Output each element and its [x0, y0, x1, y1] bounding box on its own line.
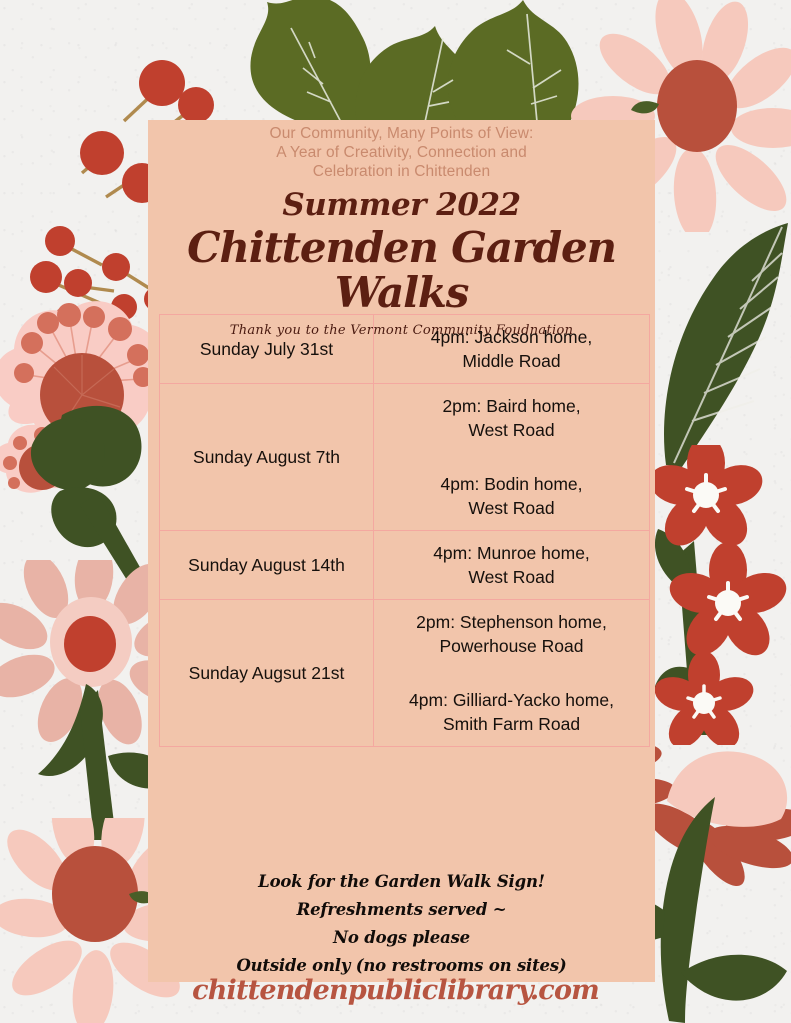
table-row: Sunday July 31st 4pm: Jackson home, Midd… — [160, 315, 650, 384]
title-line-2: Walks — [148, 270, 655, 315]
note-line-2: Refreshments served ~ — [148, 896, 655, 924]
subtitle-line-2: A Year of Creativity, Connection and — [148, 143, 655, 162]
event-series-subtitle: Our Community, Many Points of View: A Ye… — [148, 120, 655, 181]
schedule-events: 4pm: Munroe home, West Road — [374, 531, 650, 600]
maple-leaves-top-icon — [245, 0, 590, 127]
poster-card: Our Community, Many Points of View: A Ye… — [148, 120, 655, 982]
table-row: Sunday August 7th 2pm: Baird home, West … — [160, 384, 650, 531]
schedule-event: 4pm: Bodin home, West Road — [380, 472, 643, 520]
schedule-table: Sunday July 31st 4pm: Jackson home, Midd… — [159, 314, 650, 747]
schedule-events: 2pm: Baird home, West Road 4pm: Bodin ho… — [374, 384, 650, 531]
subtitle-line-1: Our Community, Many Points of View: — [148, 124, 655, 143]
schedule-events: 4pm: Jackson home, Middle Road — [374, 315, 650, 384]
website-url[interactable]: chittendenpubliclibrary.com — [0, 975, 791, 1006]
schedule-event: 4pm: Jackson home, Middle Road — [380, 325, 643, 373]
schedule-event: 2pm: Baird home, West Road — [380, 394, 643, 442]
season-heading: Summer 2022 — [148, 187, 655, 223]
visitor-notes: Look for the Garden Walk Sign! Refreshme… — [148, 868, 655, 980]
red-flowers-right-icon — [648, 445, 791, 745]
note-line-3: No dogs please — [148, 924, 655, 952]
schedule-day: Sunday Augsut 21st — [160, 600, 374, 747]
schedule-event: 4pm: Gilliard-Yacko home, Smith Farm Roa… — [380, 688, 643, 736]
subtitle-line-3: Celebration in Chittenden — [148, 162, 655, 181]
schedule-event: 2pm: Stephenson home, Powerhouse Road — [380, 610, 643, 658]
table-row: Sunday August 14th 4pm: Munroe home, Wes… — [160, 531, 650, 600]
page-title: Chittenden Garden Walks — [148, 225, 655, 315]
schedule-day: Sunday July 31st — [160, 315, 374, 384]
schedule-event: 4pm: Munroe home, West Road — [380, 541, 643, 589]
table-row: Sunday Augsut 21st 2pm: Stephenson home,… — [160, 600, 650, 747]
schedule-events: 2pm: Stephenson home, Powerhouse Road 4p… — [374, 600, 650, 747]
poster-canvas: Our Community, Many Points of View: A Ye… — [0, 0, 791, 1023]
schedule-day: Sunday August 14th — [160, 531, 374, 600]
note-line-1: Look for the Garden Walk Sign! — [148, 868, 655, 896]
title-line-1: Chittenden Garden — [148, 225, 655, 270]
schedule-day: Sunday August 7th — [160, 384, 374, 531]
